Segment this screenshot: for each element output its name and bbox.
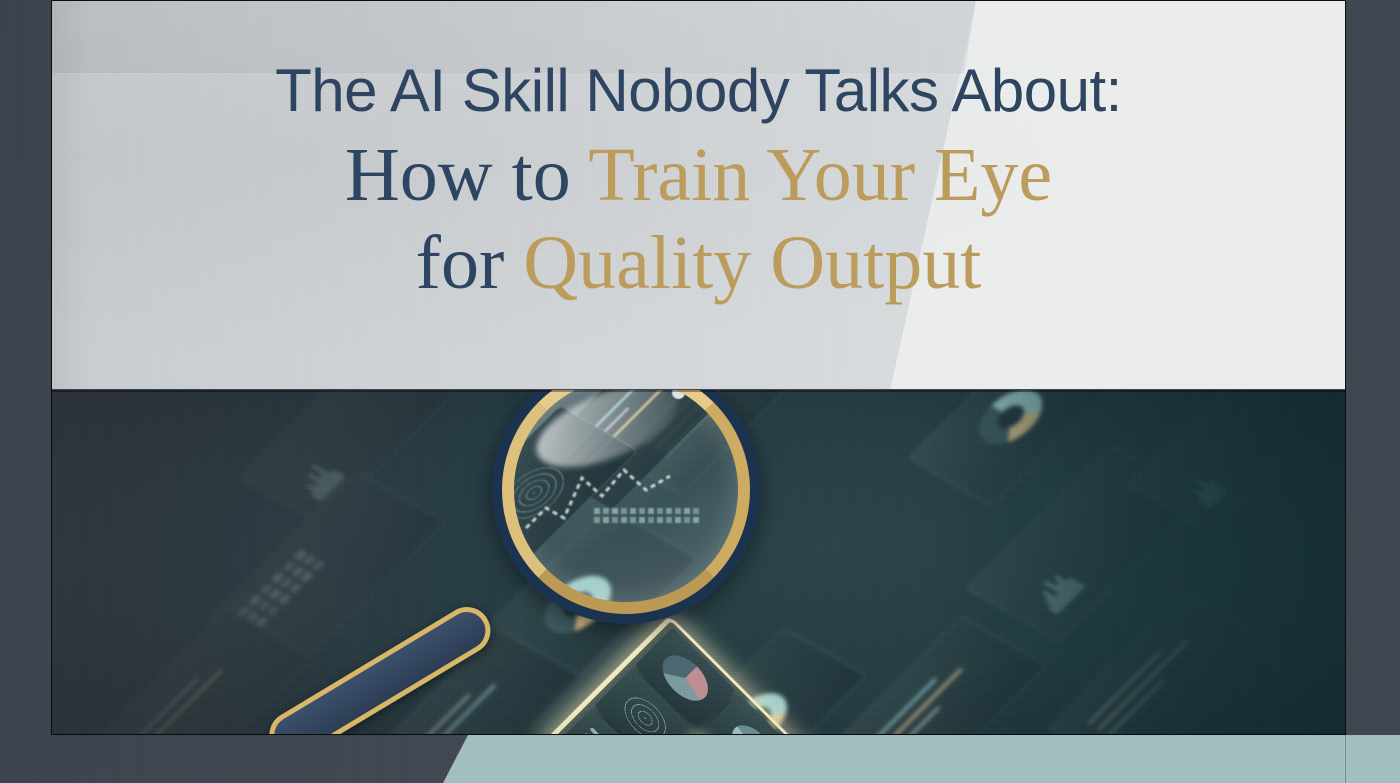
- content-frame: The AI Skill Nobody Talks About: How to …: [51, 0, 1346, 735]
- magnifier-handle: [261, 598, 499, 735]
- magnifier-icon[interactable]: [52, 390, 1345, 735]
- title-line-2-accent: Train Your Eye: [588, 133, 1052, 217]
- slide-canvas: The AI Skill Nobody Talks About: How to …: [0, 0, 1400, 783]
- line-chart-icon: [520, 456, 690, 546]
- headline-block: The AI Skill Nobody Talks About: How to …: [52, 1, 1345, 389]
- tile-hexagon-featured: [661, 734, 762, 735]
- title-line-3: for Quality Output: [416, 222, 982, 306]
- title-panel: The AI Skill Nobody Talks About: How to …: [52, 1, 1345, 389]
- title-line-2: How to Train Your Eye: [345, 134, 1052, 218]
- title-line-2-plain: How to: [345, 133, 589, 217]
- title-line-1: The AI Skill Nobody Talks About:: [275, 59, 1122, 122]
- title-line-3-accent: Quality Output: [523, 221, 981, 305]
- title-line-3-plain: for: [416, 221, 524, 305]
- magnifier-lens: [514, 390, 738, 602]
- hero-image: [52, 390, 1345, 735]
- panel-seam: [52, 390, 1345, 392]
